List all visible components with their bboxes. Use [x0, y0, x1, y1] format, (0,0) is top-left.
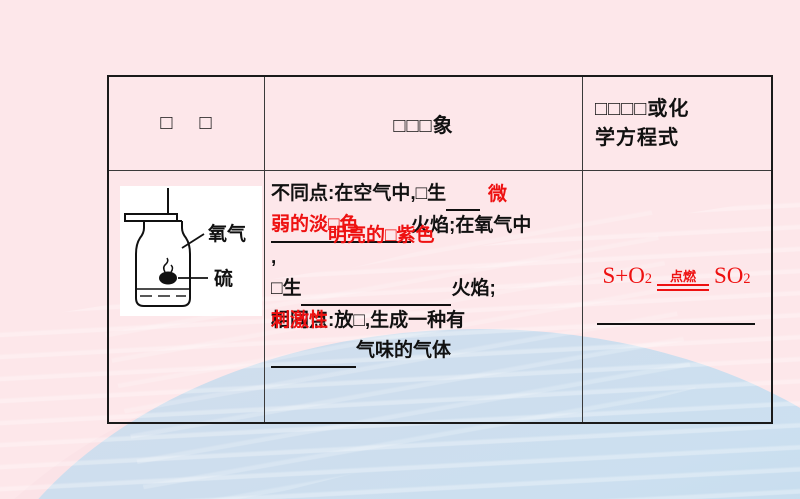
phenomenon-text-block: 不同点:在空气中,□生 微 火焰;在氧气中 弱的淡□色 , 明亮的□紫色 □生 …: [265, 171, 582, 422]
header-item-part-a: □: [160, 112, 173, 135]
header-item-part-b: □: [200, 112, 213, 135]
equation-reactant-2: O: [628, 263, 645, 289]
equation-product-sub: 2: [743, 271, 750, 288]
phenomenon-line-4-prefix: □生: [271, 278, 301, 299]
phenomenon-line-6-suffix: 气味的气体: [356, 340, 451, 361]
equation-plus: +: [615, 263, 628, 289]
header-phenomenon-text: □□□象: [265, 77, 582, 170]
header-equation-text: □□□□或化 学方程式: [583, 77, 782, 170]
slide-canvas: □ □ □□□象 □□□□或化 学方程式: [0, 0, 800, 499]
equation-condition-arrow-icon: 点燃: [657, 270, 709, 291]
phenomenon-line-3-comma: ,: [271, 247, 276, 268]
phenomenon-answer-3: 明亮的□紫色: [328, 221, 434, 251]
phenomenon-answer-1: 微: [488, 180, 507, 210]
header-cell-phenomenon: □□□象: [265, 77, 583, 170]
phenomenon-line-5-rest: :放□,生成一种有: [328, 310, 465, 331]
equation-condition-label: 点燃: [670, 270, 696, 283]
figure-label-oxygen: 氧气: [208, 222, 246, 245]
phenomenon-blank-1[interactable]: [446, 179, 480, 211]
phenomenon-line-3: , 明亮的□紫色: [271, 243, 578, 273]
table-body-row: 氧气 硫 不同点:在空气中,□生 微 火焰;在氧气中 弱的淡□色: [109, 171, 771, 422]
phenomenon-blank-4[interactable]: [271, 336, 356, 368]
figure-label-sulfur: 硫: [214, 267, 233, 290]
equation-double-bar-icon: [657, 284, 709, 291]
experiment-figure: 氧气 硫: [120, 186, 262, 316]
equation-reactant-2-sub: 2: [645, 271, 652, 288]
phenomenon-blank-3[interactable]: [301, 274, 451, 306]
equation-reactant-1: S: [602, 263, 615, 289]
header-equation-line2: 学方程式: [595, 124, 679, 153]
comparison-table: □ □ □□□象 □□□□或化 学方程式: [107, 75, 773, 424]
body-cell-figure: 氧气 硫: [109, 171, 265, 422]
header-cell-item: □ □: [109, 77, 265, 170]
chemical-equation: S+O2 点燃 SO2: [602, 263, 750, 293]
body-cell-phenomenon: 不同点:在空气中,□生 微 火焰;在氧气中 弱的淡□色 , 明亮的□紫色 □生 …: [265, 171, 583, 422]
header-cell-equation: □□□□或化 学方程式: [583, 77, 770, 170]
body-cell-equation: S+O2 点燃 SO2: [583, 171, 770, 422]
phenomenon-line-4: □生 火焰;: [271, 274, 578, 306]
phenomenon-line-1: 不同点:在空气中,□生 微: [271, 179, 578, 211]
equation-product: SO: [714, 263, 743, 289]
phenomenon-line-4-suffix: 火焰;: [451, 278, 495, 299]
phenomenon-line-1-text: 不同点:在空气中,□生: [271, 183, 446, 204]
header-equation-line1: □□□□或化: [595, 95, 689, 124]
gas-jar-diagram-icon: 氧气 硫: [120, 186, 262, 316]
table-header-row: □ □ □□□象 □□□□或化 学方程式: [109, 77, 771, 171]
chemical-equation-wrap: S+O2 点燃 SO2: [583, 263, 770, 293]
phenomenon-line-6: 气味的气体: [271, 336, 578, 368]
phenomenon-answer-4: 刺激性: [271, 306, 328, 336]
phenomenon-line-5: 相同点:放□,生成一种有 刺激性: [271, 306, 578, 336]
equation-answer-blank[interactable]: [597, 323, 755, 325]
header-item-text: □ □: [109, 77, 264, 170]
